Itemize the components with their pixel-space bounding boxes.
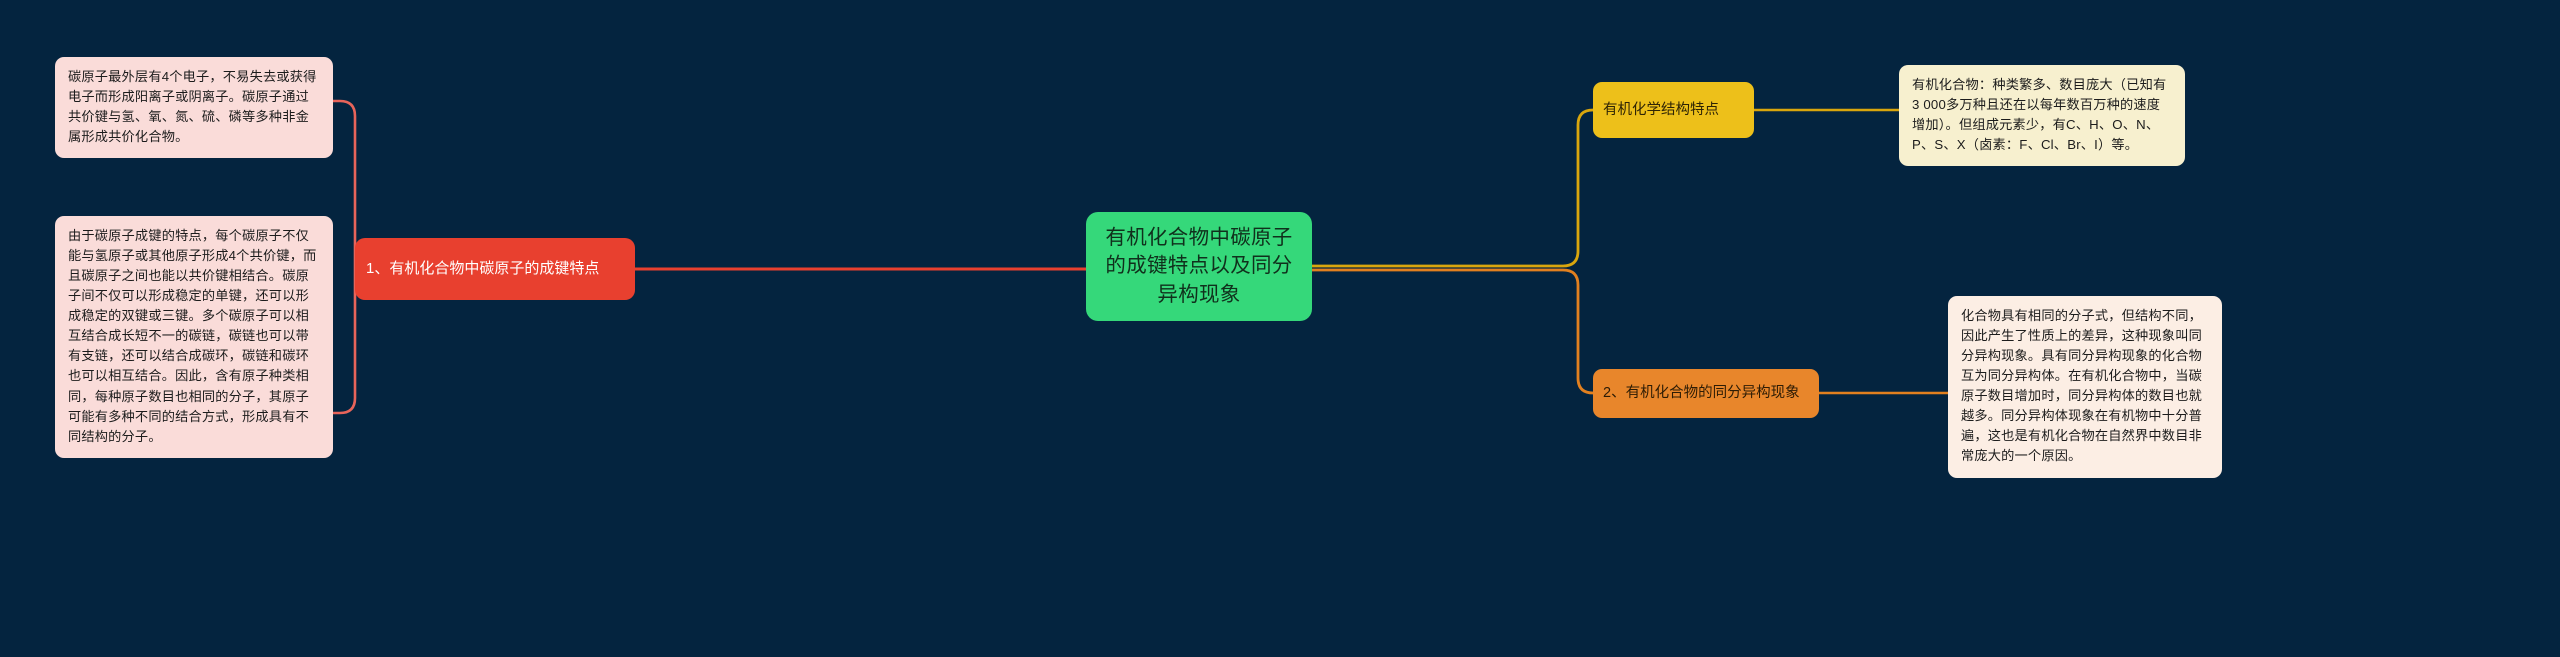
central-topic-node[interactable]: 有机化合物中碳原子的成键特点以及同分异构现象	[1086, 212, 1312, 321]
note-card-organic-facts[interactable]: 有机化合物：种类繁多、数目庞大（已知有3 000多万种且还在以每年数百万种的速度…	[1899, 65, 2185, 166]
note-card-isomerism[interactable]: 化合物具有相同的分子式，但结构不同，因此产生了性质上的差异，这种现象叫同分异构现…	[1948, 296, 2222, 478]
branch-label-isomer: 2、有机化合物的同分异构现象	[1593, 383, 1810, 403]
connector-central-to-structure	[1312, 110, 1593, 266]
note-card-chains[interactable]: 由于碳原子成键的特点，每个碳原子不仅能与氢原子或其他原子形成4个共价键，而且碳原…	[55, 216, 333, 458]
branch-node-isomer[interactable]: 2、有机化合物的同分异构现象	[1593, 369, 1819, 418]
mindmap-canvas: 有机化合物中碳原子的成键特点以及同分异构现象 1、有机化合物中碳原子的成键特点 …	[0, 0, 2560, 657]
connector-chains-to-bonding	[333, 269, 355, 413]
branch-node-structure[interactable]: 有机化学结构特点	[1593, 82, 1754, 138]
branch-node-bonding[interactable]: 1、有机化合物中碳原子的成键特点	[355, 238, 635, 300]
note-card-valence[interactable]: 碳原子最外层有4个电子，不易失去或获得电子而形成阳离子或阴离子。碳原子通过共价键…	[55, 57, 333, 158]
branch-label-bonding: 1、有机化合物中碳原子的成键特点	[355, 258, 610, 280]
central-topic-label: 有机化合物中碳原子的成键特点以及同分异构现象	[1086, 224, 1312, 309]
connector-valence-to-bonding	[333, 101, 355, 269]
connector-central-to-isomer	[1312, 270, 1593, 393]
branch-label-structure: 有机化学结构特点	[1593, 100, 1729, 120]
